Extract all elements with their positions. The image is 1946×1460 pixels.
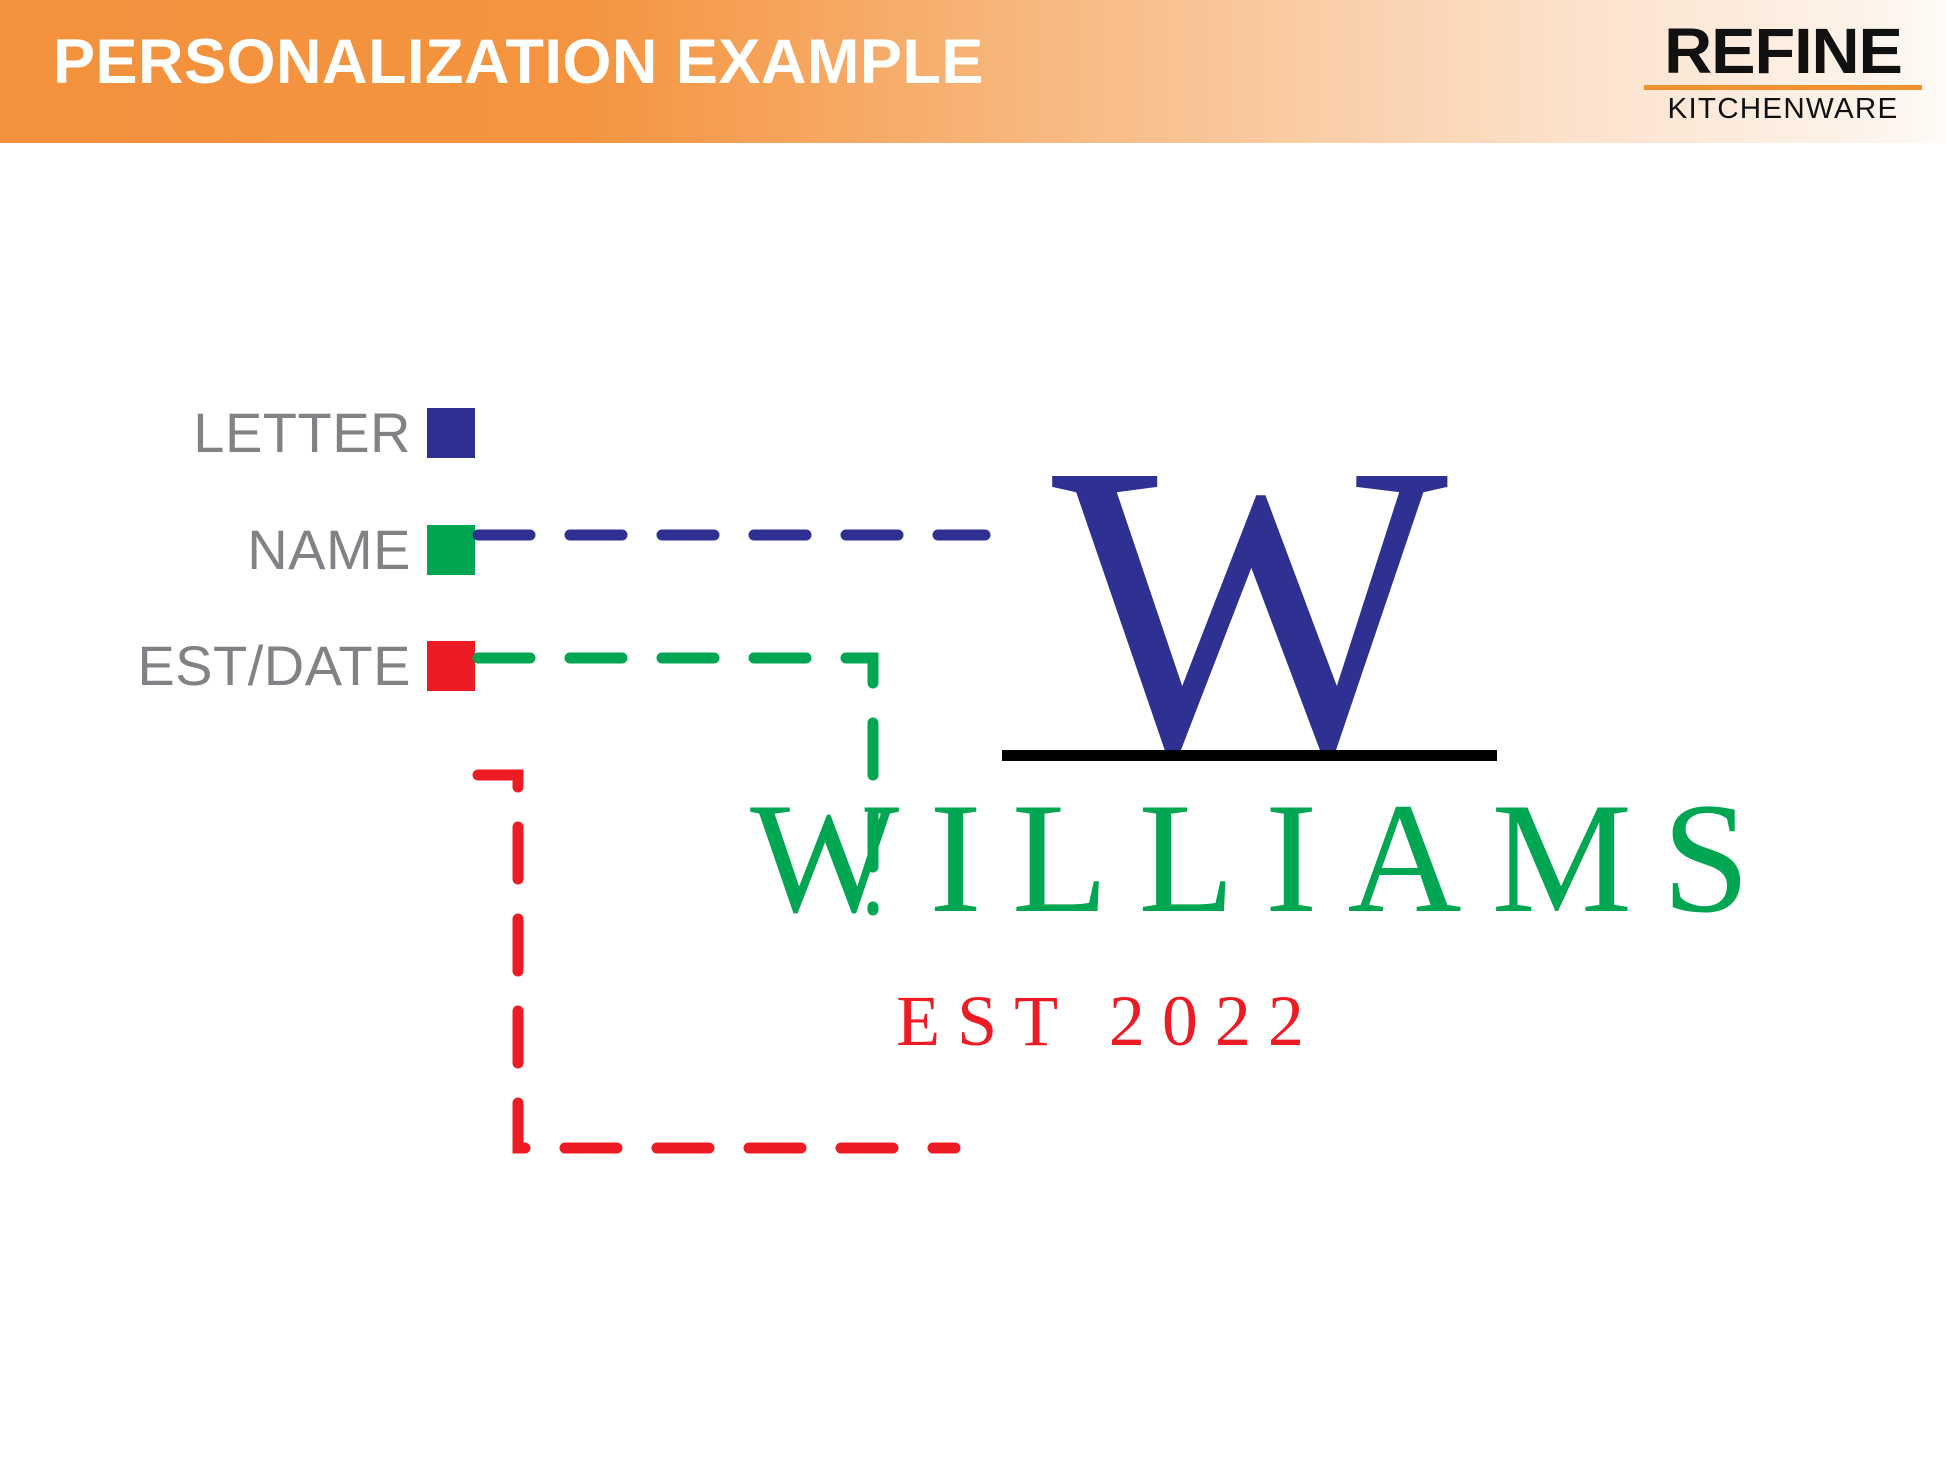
legend-label-name: NAME: [247, 517, 411, 582]
monogram-surname: WILLIAMS: [510, 780, 1946, 938]
legend-swatch-letter: [427, 408, 475, 458]
legend-item-letter: LETTER: [55, 400, 475, 465]
brand-subtitle: KITCHENWARE: [1641, 93, 1925, 126]
brand-name: REFINE: [1638, 22, 1927, 81]
legend-swatch-est-date: [427, 641, 475, 691]
legend-swatch-name: [427, 525, 475, 575]
legend-label-letter: LETTER: [193, 400, 411, 465]
header-bar: PERSONALIZATION EXAMPLE REFINE KITCHENWA…: [0, 0, 1946, 143]
legend-item-name: NAME: [55, 517, 475, 582]
page-title: PERSONALIZATION EXAMPLE: [53, 26, 984, 98]
legend-item-est-date: EST/DATE: [55, 633, 475, 698]
legend-label-est-date: EST/DATE: [137, 633, 411, 698]
monogram-divider: [1002, 750, 1497, 761]
brand-logo: REFINE KITCHENWARE: [1644, 22, 1922, 126]
monogram-artwork: W WILLIAMS EST 2022: [600, 400, 1900, 1200]
slide-canvas: PERSONALIZATION EXAMPLE REFINE KITCHENWA…: [0, 0, 1946, 1460]
monogram-established: EST 2022: [600, 985, 1600, 1057]
